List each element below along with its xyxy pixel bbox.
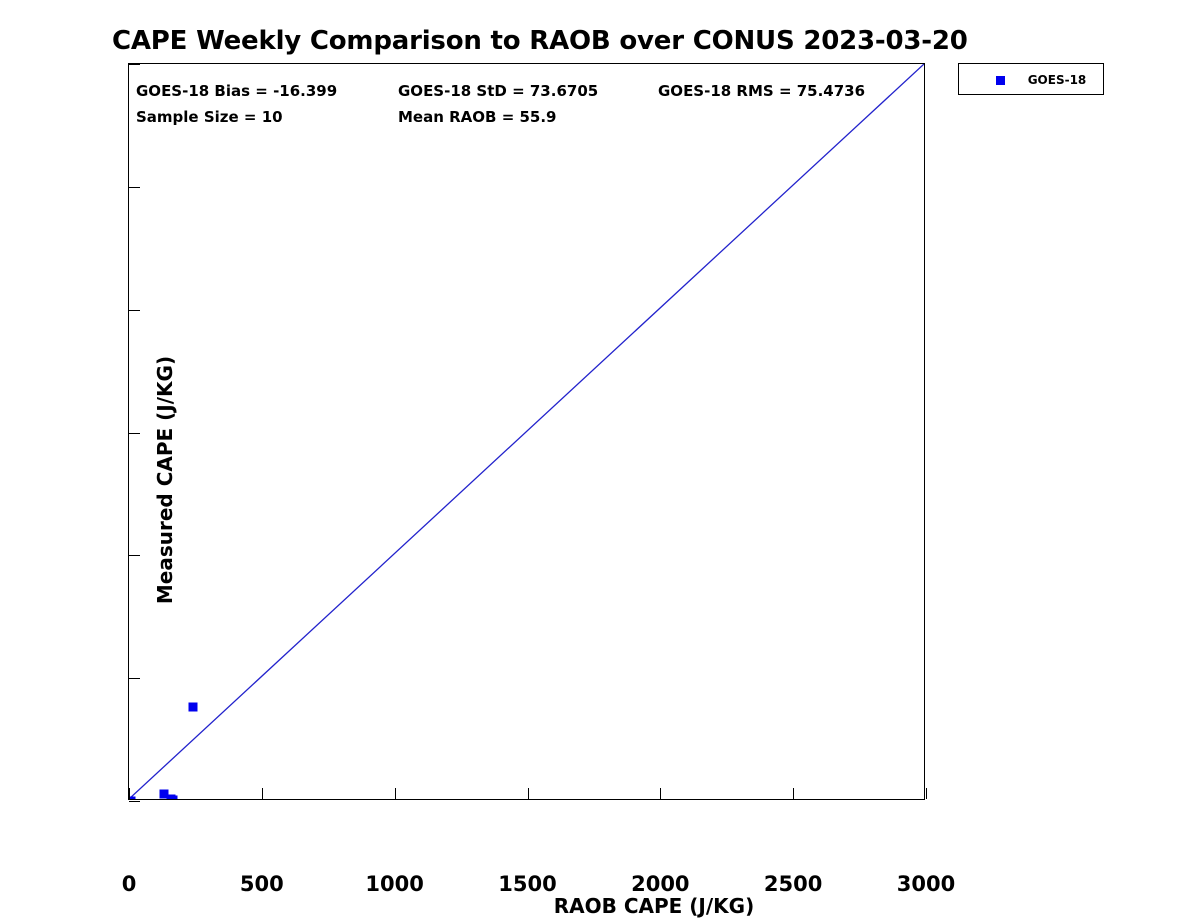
x-tick-label-500: 500	[187, 872, 337, 896]
x-tick-label-0: 0	[54, 872, 204, 896]
plot-inner	[129, 64, 924, 799]
y-axis-title: Measured CAPE (J/KG)	[153, 160, 177, 800]
x-tick-2000	[660, 788, 661, 799]
x-tick-label-1500: 1500	[453, 872, 603, 896]
x-tick-label-2500: 2500	[718, 872, 868, 896]
x-tick-3000	[926, 788, 927, 799]
legend-label-goes-18: GOES-18	[1017, 73, 1097, 87]
x-tick-0	[129, 788, 130, 799]
y-tick-2500	[129, 187, 140, 188]
y-tick-2000	[129, 310, 140, 311]
x-tick-1500	[528, 788, 529, 799]
y-tick-1500	[129, 433, 140, 434]
legend: GOES-18	[958, 63, 1104, 95]
x-tick-500	[262, 788, 263, 799]
legend-marker-goes-18	[996, 76, 1005, 85]
x-tick-2500	[793, 788, 794, 799]
chart-figure: CAPE Weekly Comparison to RAOB over CONU…	[0, 0, 1200, 900]
y-tick-500	[129, 678, 140, 679]
plot-area: 0500100015002000250030000500100015002000…	[128, 63, 925, 800]
x-tick-label-3000: 3000	[851, 872, 1001, 896]
x-tick-1000	[395, 788, 396, 799]
x-tick-label-1000: 1000	[320, 872, 470, 896]
y-tick-1000	[129, 555, 140, 556]
data-point	[189, 702, 198, 711]
x-axis-title: RAOB CAPE (J/KG)	[129, 894, 1179, 918]
y-tick-3000	[129, 64, 140, 65]
x-tick-label-2000: 2000	[585, 872, 735, 896]
one-to-one-reference-line	[129, 64, 924, 799]
y-tick-0	[129, 801, 140, 802]
chart-title: CAPE Weekly Comparison to RAOB over CONU…	[112, 26, 952, 56]
